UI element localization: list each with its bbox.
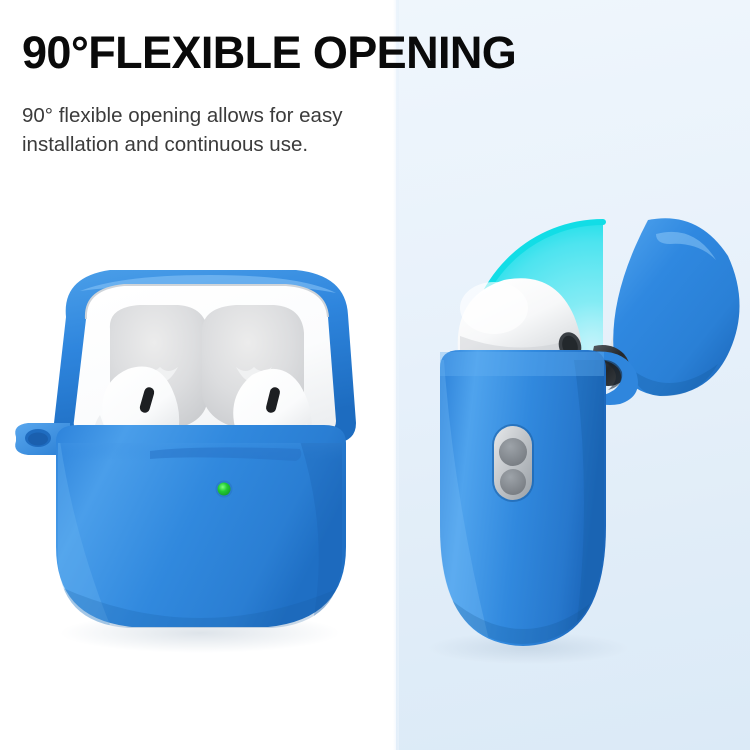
case-body bbox=[440, 350, 608, 652]
status-led bbox=[216, 481, 233, 498]
product-left-case bbox=[0, 255, 400, 655]
page-subtitle: 90° flexible opening allows for easy ins… bbox=[22, 101, 442, 159]
pairing-button-hole[interactable] bbox=[499, 438, 527, 466]
product-feature-image: 90°FLEXIBLE OPENING 90° flexible opening… bbox=[0, 0, 750, 750]
status-led-glow bbox=[218, 483, 231, 496]
case-body bbox=[56, 425, 346, 631]
earbud-gloss bbox=[460, 282, 528, 334]
product-right-case bbox=[398, 200, 750, 670]
page-title: 90°FLEXIBLE OPENING bbox=[22, 30, 622, 77]
side-button[interactable] bbox=[492, 424, 534, 502]
keychain-hole-inner bbox=[28, 433, 48, 446]
speaker-hole bbox=[500, 469, 526, 495]
case-body-top-lip bbox=[440, 350, 606, 376]
copy-block: 90°FLEXIBLE OPENING 90° flexible opening… bbox=[22, 30, 622, 159]
